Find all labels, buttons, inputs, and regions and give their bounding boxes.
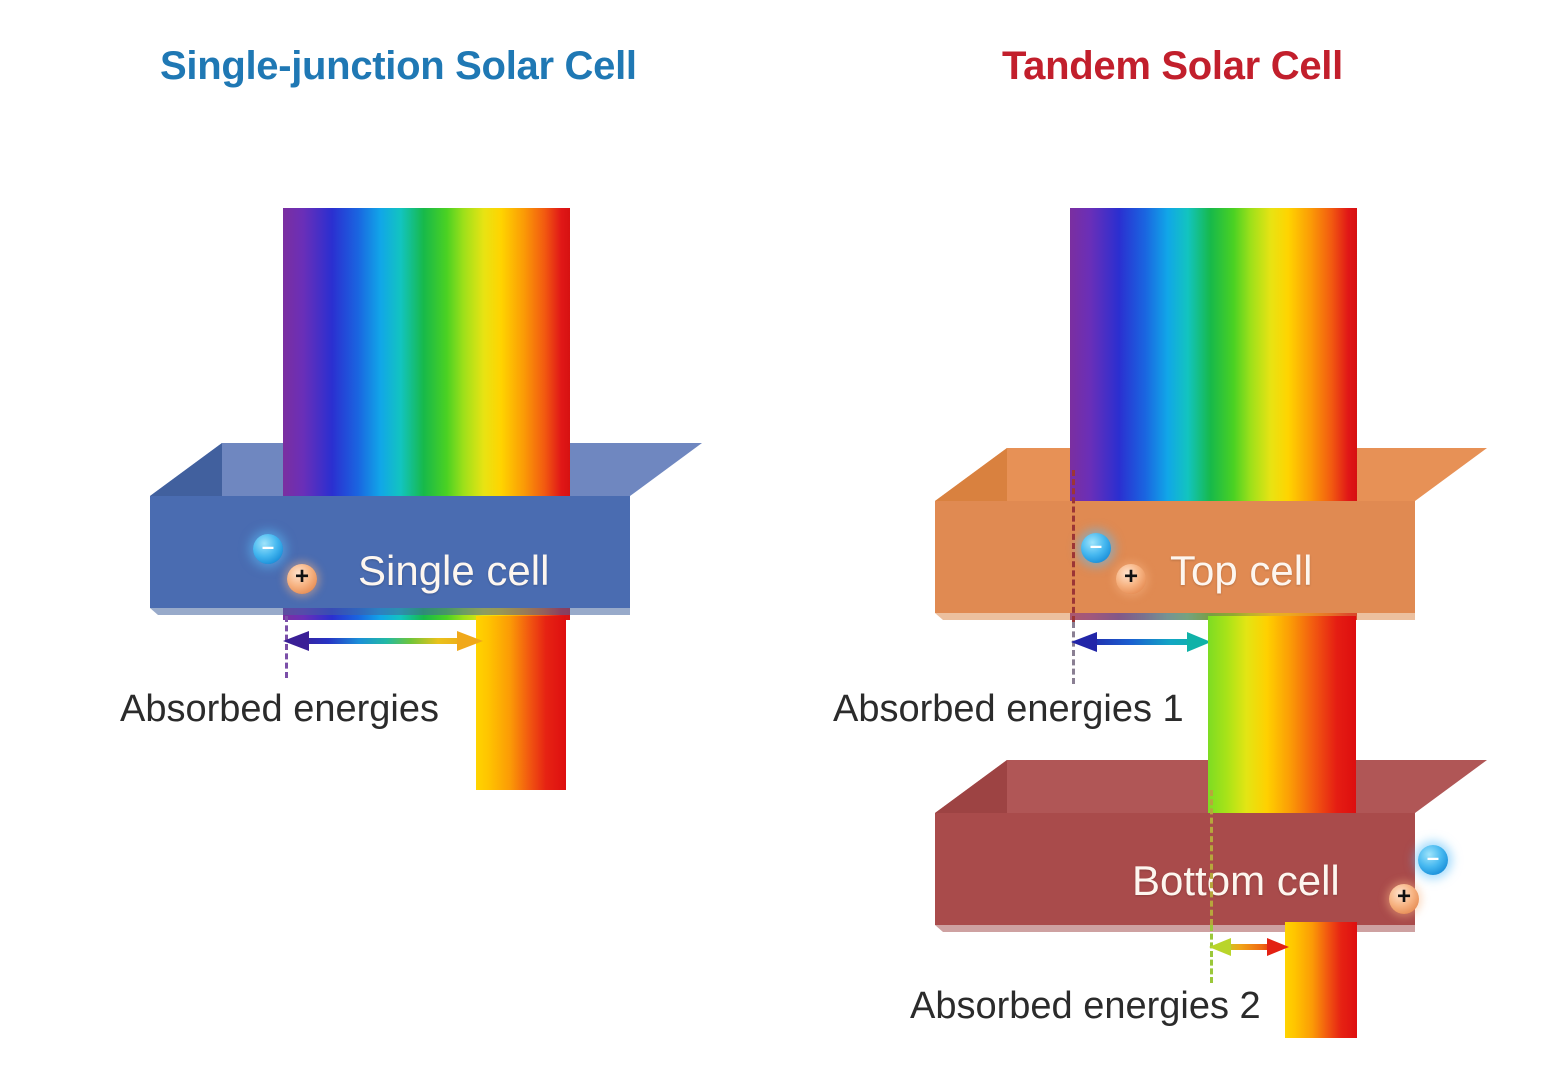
top-cell-label: Top cell	[1170, 547, 1312, 595]
incoming-beam-over-slab-left	[283, 208, 570, 496]
absorbed-energies-1-arrow	[1071, 627, 1211, 659]
hole-marker-bottom-cell: +	[1389, 884, 1419, 914]
single-cell-label: Single cell	[358, 547, 549, 595]
absorbed-energies-2-label: Absorbed energies 2	[910, 985, 1261, 1028]
electron-sign: –	[1090, 535, 1102, 557]
electron-marker-top-cell: –	[1081, 533, 1111, 563]
diagram-canvas: Single-junction Solar Cell Single cell –…	[0, 0, 1559, 1080]
page-title-tandem: Tandem Solar Cell	[1002, 44, 1343, 89]
electron-sign: –	[262, 536, 274, 558]
transmitted-light-beam-left	[476, 616, 566, 790]
hole-marker-top-cell: +	[1116, 564, 1146, 594]
absorbed-energies-2-arrow	[1209, 932, 1289, 964]
absorption-edge-dashline-top-cell	[1072, 470, 1075, 622]
incoming-beam-over-top-cell	[1070, 208, 1357, 501]
hole-sign: +	[295, 565, 309, 589]
transmitted-light-beam-right	[1285, 922, 1357, 1038]
electron-marker-bottom-cell: –	[1418, 845, 1448, 875]
single-cell-bottom-edge	[150, 608, 630, 615]
absorbed-energies-label-left: Absorbed energies	[120, 688, 439, 731]
electron-marker-single-cell: –	[253, 534, 283, 564]
absorbed-energies-arrow-left	[283, 626, 483, 658]
absorption-edge-dashline-bottom-cell	[1210, 790, 1213, 925]
hole-sign: +	[1124, 565, 1138, 589]
electron-sign: –	[1427, 847, 1439, 869]
bottom-cell-label: Bottom cell	[1132, 857, 1340, 905]
middle-beam-over-bottom-cell	[1208, 616, 1356, 813]
hole-sign: +	[1397, 885, 1411, 909]
absorbed-energies-1-label: Absorbed energies 1	[833, 688, 1184, 731]
hole-marker-single-cell: +	[287, 564, 317, 594]
page-title-single-junction: Single-junction Solar Cell	[160, 44, 637, 89]
